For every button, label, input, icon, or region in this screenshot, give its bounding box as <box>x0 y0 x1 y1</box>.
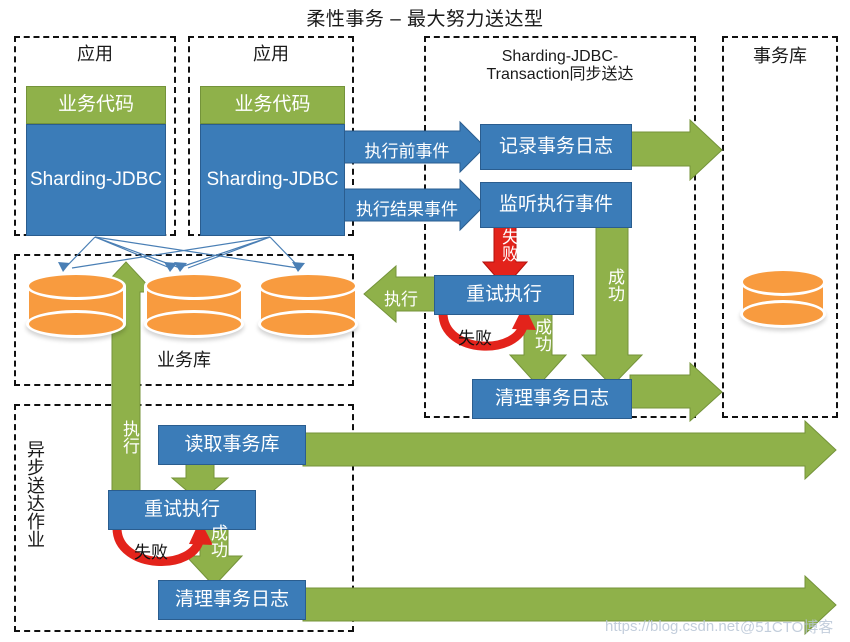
box-retry-execution-middle[interactable]: 重试执行 <box>434 275 574 315</box>
arrow-read-txdb-to-txdb <box>303 421 836 479</box>
panel-async-delivery-job-label: 异步送达作业 <box>22 440 48 548</box>
cylinder-top <box>740 268 826 296</box>
cylinder-top <box>144 272 244 300</box>
panel-application-left-label: 应用 <box>14 44 176 65</box>
box-read-transaction-database[interactable]: 读取事务库 <box>158 425 306 465</box>
label-success-long-middle: 成功 <box>602 268 627 302</box>
label-fail-red-down: 失败 <box>496 228 521 262</box>
label-success-short-middle: 成功 <box>529 318 554 352</box>
watermark-handle: @51CTO博客 <box>740 616 833 637</box>
panel-business-database-label: 业务库 <box>14 350 354 371</box>
panel-transaction-database-label: 事务库 <box>722 46 838 67</box>
panel-application-right-label: 应用 <box>188 44 354 65</box>
cylinder-top <box>26 272 126 300</box>
database-cylinder-business-1 <box>26 272 126 338</box>
box-business-code-right[interactable]: 业务代码 <box>200 86 345 124</box>
box-business-code-left[interactable]: 业务代码 <box>26 86 166 124</box>
database-cylinder-transaction <box>740 268 826 328</box>
box-record-transaction-log[interactable]: 记录事务日志 <box>480 124 632 170</box>
page-title: 柔性事务 – 最大努力送达型 <box>0 4 850 31</box>
label-exec-result-event: 执行结果事件 <box>348 195 466 220</box>
label-execute-left: 执行 <box>376 285 426 310</box>
cylinder-bottom <box>144 310 244 338</box>
cylinder-top <box>258 272 358 300</box>
label-pre-exec-event: 执行前事件 <box>352 137 462 162</box>
label-fail-loop-middle: 失败 <box>450 324 500 349</box>
label-fail-loop-bottom: 失败 <box>126 538 176 563</box>
panel-transaction-database <box>722 36 838 418</box>
diagram-canvas: 柔性事务 – 最大努力送达型 应用 应用 Sharding-JDBC- Tran… <box>0 0 850 642</box>
box-listen-execution-event[interactable]: 监听执行事件 <box>480 182 632 228</box>
cylinder-bottom <box>258 310 358 338</box>
watermark-url: https://blog.csdn.net <box>605 618 739 635</box>
cylinder-bottom <box>26 310 126 338</box>
box-sharding-jdbc-left[interactable]: Sharding-JDBC <box>26 124 166 236</box>
database-cylinder-business-2 <box>144 272 244 338</box>
label-execute-up-bottom: 执行 <box>117 420 142 454</box>
box-sharding-jdbc-right[interactable]: Sharding-JDBC <box>200 124 345 236</box>
cylinder-bottom <box>740 300 826 328</box>
panel-sharding-jdbc-transaction-label: Sharding-JDBC- Transaction同步送达 <box>424 48 696 85</box>
label-success-bottom: 成功 <box>205 524 230 558</box>
box-retry-execution-bottom[interactable]: 重试执行 <box>108 490 256 530</box>
box-clean-transaction-log-bottom[interactable]: 清理事务日志 <box>158 580 306 620</box>
box-clean-transaction-log-middle[interactable]: 清理事务日志 <box>472 379 632 419</box>
database-cylinder-business-3 <box>258 272 358 338</box>
